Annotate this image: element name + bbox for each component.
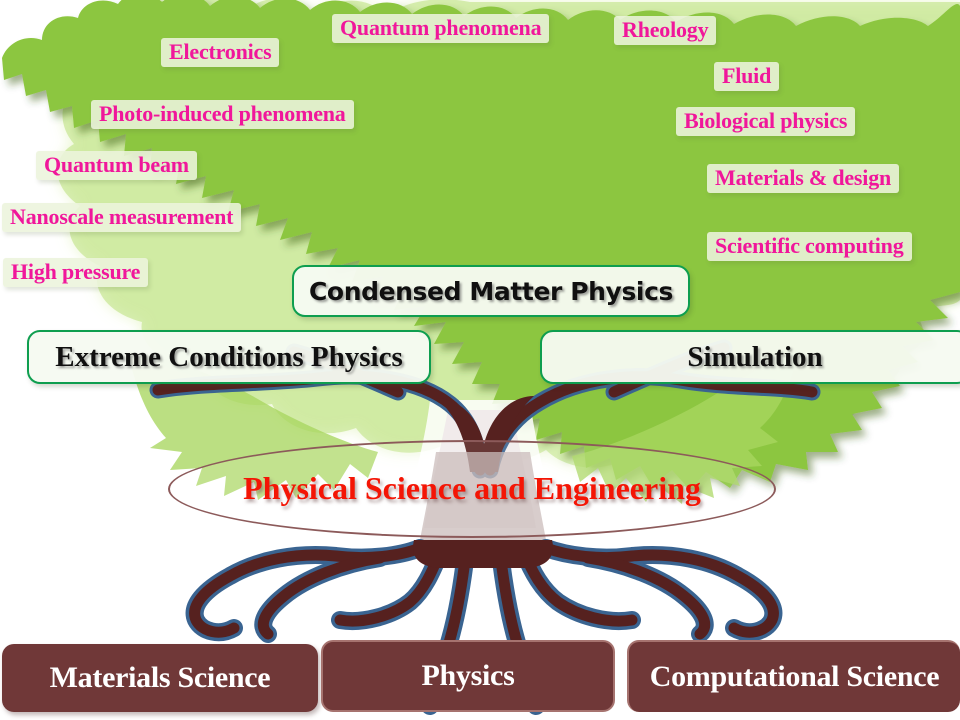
foundation-label-computational-science: Computational Science	[650, 660, 940, 694]
keyword-nanoscale-measurement[interactable]: Nanoscale measurement	[2, 203, 241, 232]
keyword-electronics[interactable]: Electronics	[161, 38, 279, 67]
keyword-fluid[interactable]: Fluid	[714, 62, 779, 91]
keyword-quantum-phenomena[interactable]: Quantum phenomena	[332, 14, 549, 43]
discipline-box-simulation[interactable]: Simulation	[540, 330, 960, 384]
foundation-box-computational-science[interactable]: Computational Science	[627, 640, 960, 712]
discipline-box-condensed-matter-physics[interactable]: Condensed Matter Physics	[292, 265, 690, 317]
diagram-canvas: Quantum phenomena Rheology Electronics F…	[0, 0, 960, 720]
keyword-rheology[interactable]: Rheology	[614, 16, 716, 45]
discipline-box-extreme-conditions-physics[interactable]: Extreme Conditions Physics	[27, 330, 431, 384]
foundation-box-physics[interactable]: Physics	[321, 640, 615, 712]
discipline-label-extreme-conditions-physics: Extreme Conditions Physics	[55, 341, 402, 374]
keyword-scientific-computing[interactable]: Scientific computing	[707, 232, 912, 261]
foundation-box-materials-science[interactable]: Materials Science	[2, 644, 318, 712]
keyword-materials-and-design[interactable]: Materials & design	[707, 164, 899, 193]
foundation-label-physics: Physics	[422, 659, 515, 693]
keyword-biological-physics[interactable]: Biological physics	[676, 107, 855, 136]
discipline-label-condensed-matter-physics: Condensed Matter Physics	[309, 277, 673, 306]
core-title: Physical Science and Engineering	[168, 470, 776, 507]
keyword-photo-induced-phenomena[interactable]: Photo-induced phenomena	[91, 100, 354, 129]
foundation-label-materials-science: Materials Science	[50, 661, 271, 695]
keyword-quantum-beam[interactable]: Quantum beam	[36, 151, 197, 180]
keyword-high-pressure[interactable]: High pressure	[3, 258, 148, 287]
discipline-label-simulation: Simulation	[687, 341, 822, 374]
